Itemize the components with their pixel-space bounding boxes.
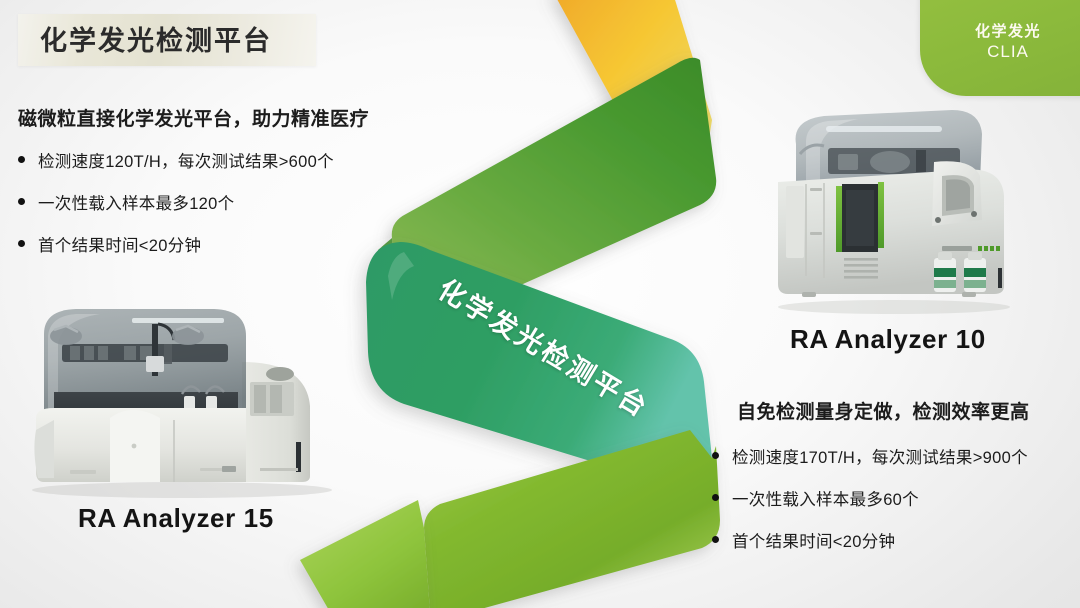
clia-badge-en-label: CLIA [987, 42, 1029, 62]
right-headline: 自免检测量身定做，检测效率更高 [737, 397, 1030, 424]
list-item: 一次性载入样本最多120个 [18, 190, 334, 214]
bullet-dot-icon [712, 452, 719, 459]
bullet-dot-icon [18, 240, 25, 247]
left-headline: 磁微粒直接化学发光平台，助力精准医疗 [18, 104, 369, 131]
bullet-dot-icon [712, 536, 719, 543]
clia-badge-cn-label: 化学发光 [975, 23, 1041, 42]
list-item: 首个结果时间<20分钟 [712, 528, 1028, 552]
bullet-dot-icon [712, 494, 719, 501]
page-title: 化学发光检测平台 [40, 19, 272, 58]
bullet-text: 首个结果时间<20分钟 [732, 528, 895, 552]
bullet-text: 首个结果时间<20分钟 [38, 232, 201, 256]
left-bullet-list: 检测速度120T/H，每次测试结果>600个 一次性载入样本最多120个 首个结… [18, 148, 334, 274]
bullet-text: 一次性载入样本最多120个 [38, 190, 234, 214]
bullet-dot-icon [18, 198, 25, 205]
clia-badge: 化学发光 CLIA [920, 0, 1080, 96]
bullet-dot-icon [18, 156, 25, 163]
ribbon-label: 化学发光检测平台 [432, 268, 658, 425]
right-bullet-list: 检测速度170T/H，每次测试结果>900个 一次性载入样本最多60个 首个结果… [712, 444, 1028, 570]
ra-analyzer-10-photo [766, 104, 1018, 316]
list-item: 检测速度120T/H，每次测试结果>600个 [18, 148, 334, 172]
ra-analyzer-15-photo [14, 300, 344, 498]
bullet-text: 检测速度170T/H，每次测试结果>900个 [732, 444, 1028, 468]
list-item: 首个结果时间<20分钟 [18, 232, 334, 256]
slide-canvas: 化学发光检测平台 化学发光 CLIA 化学发光检测平台 磁微粒直接化学发光平台，… [0, 0, 1080, 608]
list-item: 一次性载入样本最多60个 [712, 486, 1028, 510]
list-item: 检测速度170T/H，每次测试结果>900个 [712, 444, 1028, 468]
bullet-text: 一次性载入样本最多60个 [732, 486, 919, 510]
bullet-text: 检测速度120T/H，每次测试结果>600个 [38, 148, 334, 172]
ra-analyzer-10-caption: RA Analyzer 10 [790, 324, 986, 355]
ra-analyzer-15-caption: RA Analyzer 15 [78, 503, 274, 534]
